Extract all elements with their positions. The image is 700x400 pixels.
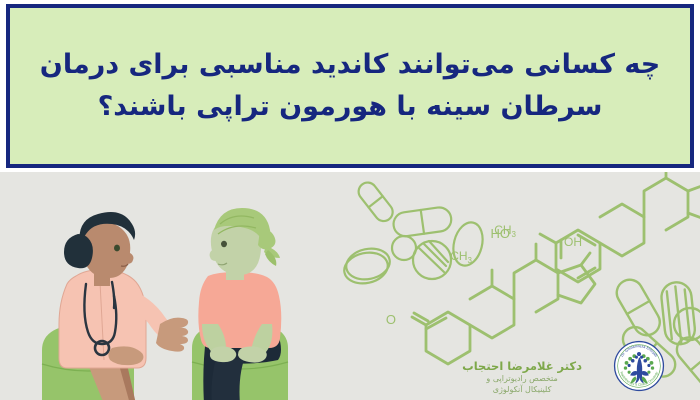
clinic-logo: Dr. Gholamreza Ehtejab Radiotherapy & Cl… [613, 340, 665, 392]
headline-line-1: چه کسانی می‌توانند کاندید مناسبی برای در… [40, 44, 660, 86]
pills-cluster-icon [341, 179, 487, 287]
headline-box: چه کسانی می‌توانند کاندید مناسبی برای در… [6, 4, 694, 168]
testosterone-label-o: O [386, 312, 396, 327]
illustration-stage: OH HO [0, 172, 700, 400]
header-band: چه کسانی می‌توانند کاندید مناسبی برای در… [0, 0, 700, 172]
poster-root: چه کسانی می‌توانند کاندید مناسبی برای در… [0, 0, 700, 400]
testosterone-label-ch3-b: CH3 [494, 223, 516, 239]
doctor-role-line-2: کلینیکال آنکولوژی [462, 385, 582, 395]
testosterone-molecule [412, 244, 595, 364]
doctor-name: دکتر غلامرضا احتجاب [462, 359, 582, 373]
credit-block: دکتر غلامرضا احتجاب متخصص رادیوتراپی و ک… [462, 359, 582, 395]
estradiol-molecule [540, 172, 700, 282]
testosterone-label-ch3-a: CH3 [450, 249, 472, 265]
headline-line-2: سرطان سینه با هورمون تراپی باشند؟ [40, 86, 660, 128]
page-title: چه کسانی می‌توانند کاندید مناسبی برای در… [40, 44, 660, 128]
doctor-role-line-1: متخصص رادیوتراپی و [462, 374, 582, 384]
molecule-decoration-layer: OH HO [0, 172, 700, 400]
testosterone-label-oh: OH [564, 235, 582, 249]
